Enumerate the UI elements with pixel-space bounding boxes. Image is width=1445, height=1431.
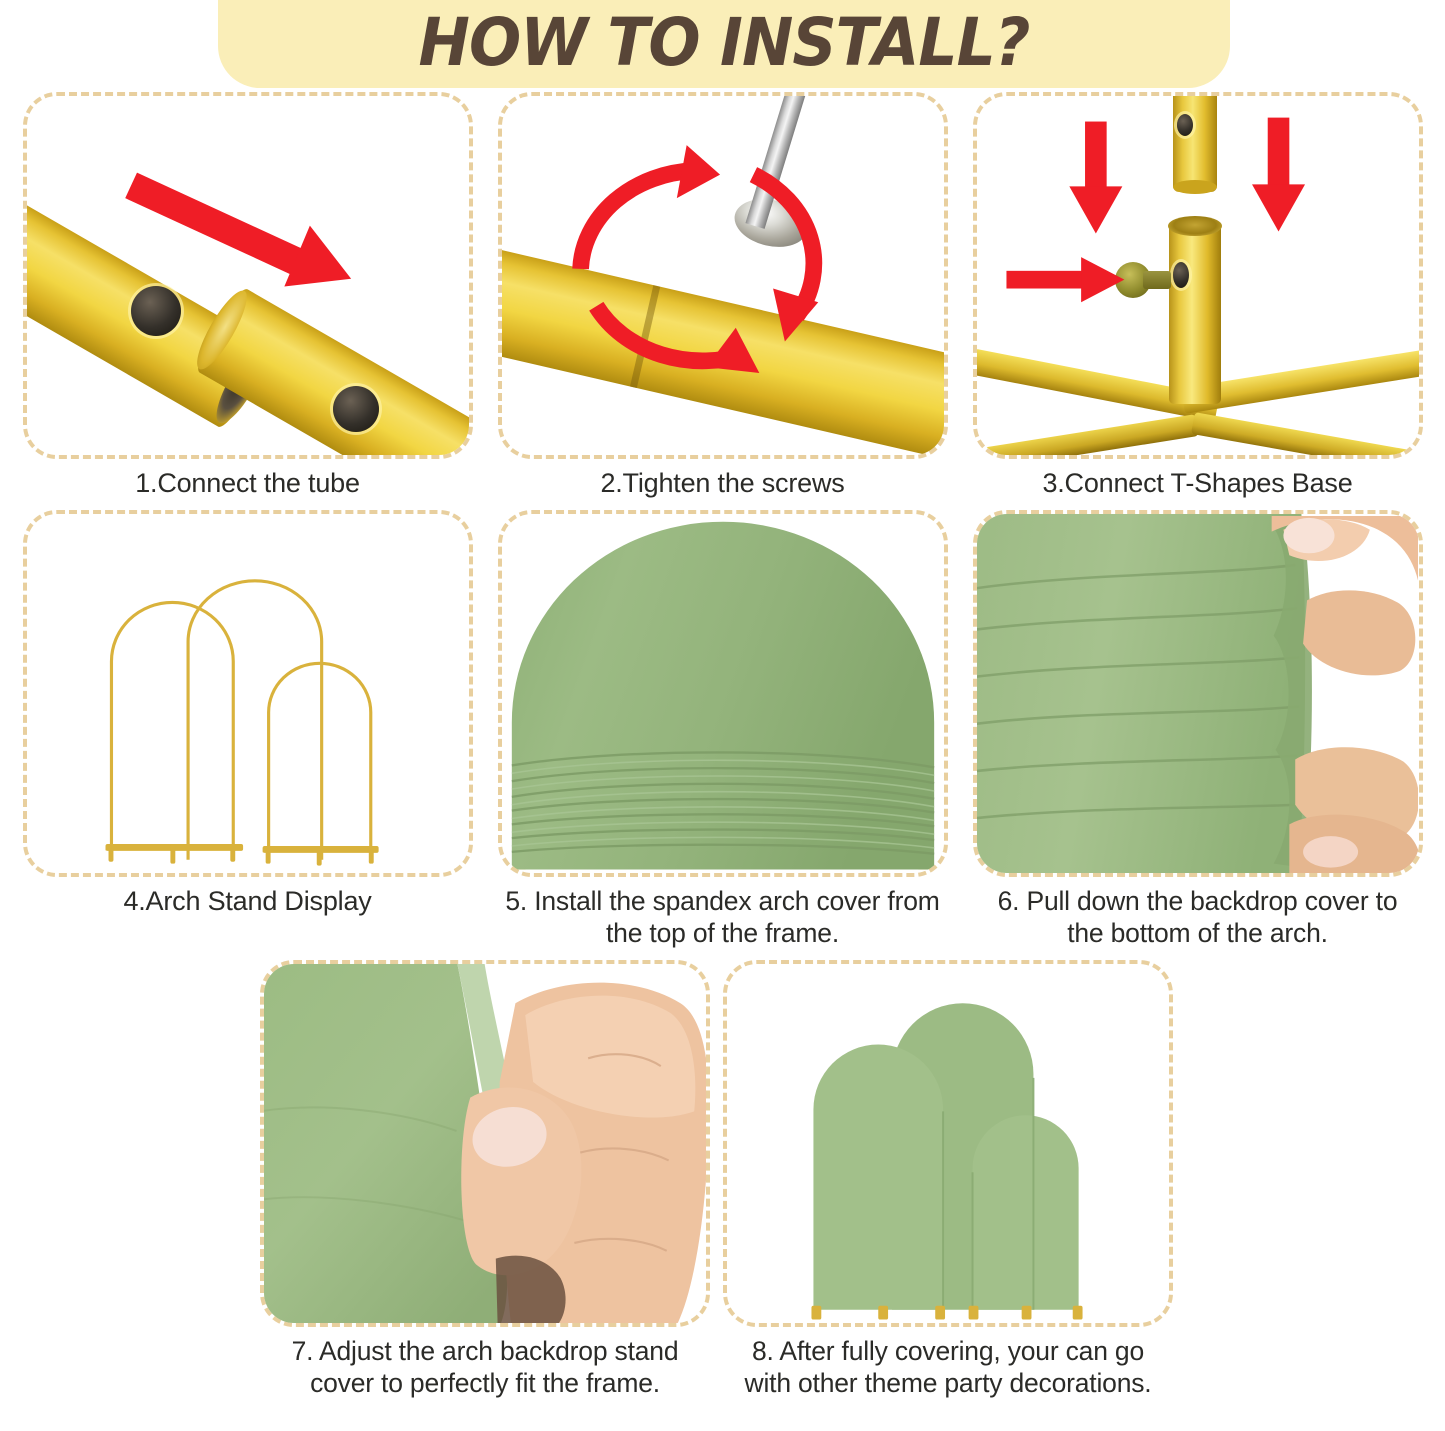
tighten-screws-illustration: [502, 96, 944, 455]
step-1-image: [23, 92, 473, 459]
steps-row-3: 7. Adjust the arch backdrop stand cover …: [0, 960, 1445, 1400]
step-2-caption: 2.Tighten the screws: [497, 459, 949, 500]
step-6-image: [973, 510, 1423, 877]
title-banner-background: HOW TO INSTALL?: [218, 0, 1230, 88]
step-4: 4.Arch Stand Display: [18, 510, 478, 950]
step-3-caption: 3.Connect T-Shapes Base: [972, 459, 1424, 500]
step-8-caption: 8. After fully covering, your can go wit…: [722, 1327, 1174, 1400]
step-2-image: [498, 92, 948, 459]
spandex-cover-on-arch-icon: [502, 514, 944, 874]
step-4-image: [23, 510, 473, 877]
pull-down-cover-icon: [977, 514, 1419, 874]
step-3: 3.Connect T-Shapes Base: [968, 92, 1428, 500]
step-3-image: [973, 92, 1423, 459]
step-5: 5. Install the spandex arch cover from t…: [493, 510, 953, 950]
header-banner: HOW TO INSTALL?: [0, 0, 1445, 92]
step-1: 1.Connect the tube: [18, 92, 478, 500]
step-2: 2.Tighten the screws: [493, 92, 953, 500]
step-6-caption: 6. Pull down the backdrop cover to the b…: [972, 877, 1424, 950]
step-8-image: [723, 960, 1173, 1327]
steps-row-1: 1.Connect the tube: [0, 92, 1445, 500]
step-6: 6. Pull down the backdrop cover to the b…: [968, 510, 1428, 950]
steps-row-2: 4.Arch Stand Display: [0, 510, 1445, 950]
page-title: HOW TO INSTALL?: [253, 0, 1194, 88]
red-arrows-icon: [977, 96, 1419, 456]
red-rotation-arrow-icon: [502, 96, 944, 456]
step-7-caption: 7. Adjust the arch backdrop stand cover …: [259, 1327, 711, 1400]
steps-grid: 1.Connect the tube: [0, 92, 1445, 1399]
adjust-cover-icon: [264, 964, 706, 1324]
step-4-caption: 4.Arch Stand Display: [22, 877, 474, 918]
step-8: 8. After fully covering, your can go wit…: [718, 960, 1178, 1400]
arch-stand-wireframe-icon: [27, 514, 469, 874]
step-5-caption: 5. Install the spandex arch cover from t…: [497, 877, 949, 950]
step-7: 7. Adjust the arch backdrop stand cover …: [255, 960, 715, 1400]
step-5-image: [498, 510, 948, 877]
red-arrow-icon: [27, 96, 469, 456]
t-base-illustration: [977, 96, 1419, 455]
covered-arches-icon: [727, 964, 1169, 1324]
step-7-image: [260, 960, 710, 1327]
connect-tube-illustration: [27, 96, 469, 455]
step-1-caption: 1.Connect the tube: [22, 459, 474, 500]
